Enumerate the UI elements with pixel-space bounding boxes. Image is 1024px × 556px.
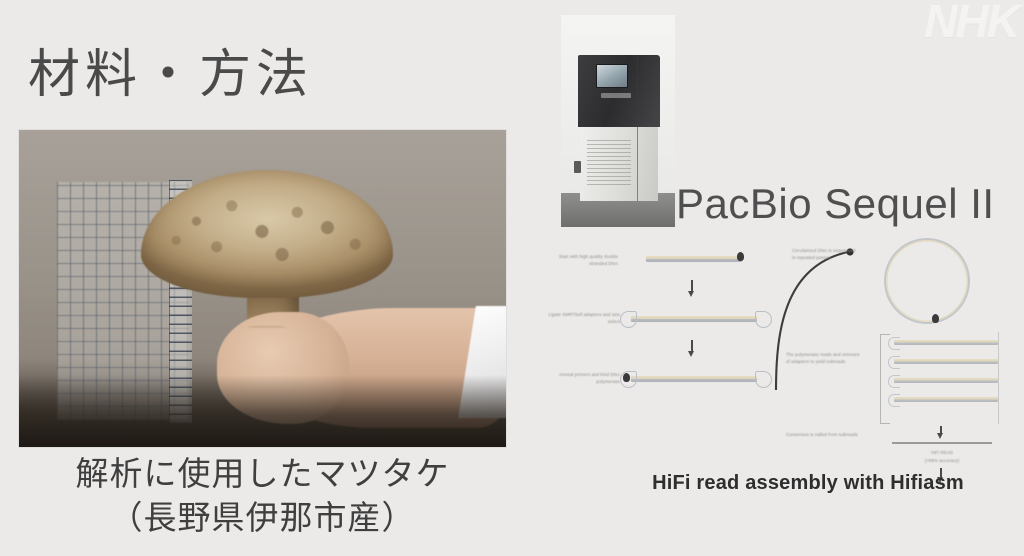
subread-pass-loop bbox=[888, 337, 900, 350]
photo-caption-line-2: （長野県伊那市産） bbox=[19, 496, 506, 540]
workflow-step-6-label: Consensus is called from subreads bbox=[786, 432, 860, 439]
workflow-arrow-1 bbox=[688, 291, 694, 297]
circular-smrtbell-icon bbox=[884, 238, 970, 324]
pacbio-instrument-photo bbox=[561, 15, 675, 227]
subread-pass-loop bbox=[888, 394, 900, 407]
subread-pass-loop bbox=[888, 356, 900, 369]
workflow-arrow-3 bbox=[937, 433, 943, 439]
smrtbell-loop-left-icon bbox=[620, 311, 637, 328]
instrument-side-panel bbox=[574, 161, 581, 173]
smrtbell-loop-right-icon bbox=[755, 311, 772, 328]
workflow-step-5-label: The polymerase reads and removes of adap… bbox=[786, 352, 860, 366]
page-title: 材料・方法 bbox=[28, 32, 313, 107]
subread-pass bbox=[894, 378, 998, 383]
hifi-read-output-label-1: HiFi READ bbox=[896, 450, 988, 457]
workflow-caption: HiFi read assembly with Hifiasm bbox=[612, 472, 1004, 495]
photo-caption: 解析に使用したマツタケ （長野県伊那市産） bbox=[19, 452, 506, 539]
smrtbell-bound-strand-icon bbox=[631, 376, 757, 382]
instrument-brand-plate bbox=[601, 93, 631, 98]
workflow-step-2-label: Ligate SMRTbell adapters and size select bbox=[538, 312, 620, 326]
double-stranded-dna-icon bbox=[646, 256, 742, 262]
smrtbell-loop-right-2-icon bbox=[755, 371, 772, 388]
workflow-step-4-label: Circularized DNA is sequenced in repeate… bbox=[792, 248, 858, 262]
matsutake-photo bbox=[19, 130, 506, 447]
subread-pass bbox=[894, 340, 998, 345]
circular-polymerase-icon bbox=[932, 314, 939, 323]
subread-passes-icon bbox=[880, 334, 1000, 422]
workflow-step-1-label: Start with high quality double stranded … bbox=[540, 254, 618, 268]
smrtbell-strand-icon bbox=[631, 316, 757, 322]
consensus-read-icon bbox=[892, 442, 992, 444]
slide-canvas: NHK 材料・方法 解析に使用したマツタケ （長野県伊那市産） PacBio S… bbox=[0, 0, 1024, 556]
bound-polymerase-icon bbox=[623, 373, 630, 382]
workflow-arrow-2 bbox=[688, 351, 694, 357]
photo-caption-line-1: 解析に使用したマツタケ bbox=[19, 452, 506, 496]
instrument-touchscreen bbox=[596, 64, 628, 88]
instrument-door-seam bbox=[637, 55, 638, 201]
instrument-label: PacBio Sequel II bbox=[676, 180, 995, 228]
instrument-vent-grille bbox=[587, 137, 631, 185]
workflow-step-3-label: Anneal primers and bind DNA polymerase bbox=[538, 372, 620, 386]
subread-pass bbox=[894, 359, 998, 364]
polymerase-icon bbox=[737, 252, 744, 261]
photo-foreground-shadow bbox=[19, 375, 506, 447]
hifi-workflow-diagram: Start with high quality double stranded … bbox=[528, 236, 1020, 488]
passes-right-guide bbox=[998, 332, 999, 424]
subread-pass-loop bbox=[888, 375, 900, 388]
hifi-read-output-label-2: (>99% accuracy) bbox=[896, 458, 988, 465]
nhk-watermark: NHK bbox=[924, 0, 1018, 48]
workflow-connector-curve bbox=[774, 242, 860, 394]
subread-pass bbox=[894, 397, 998, 402]
